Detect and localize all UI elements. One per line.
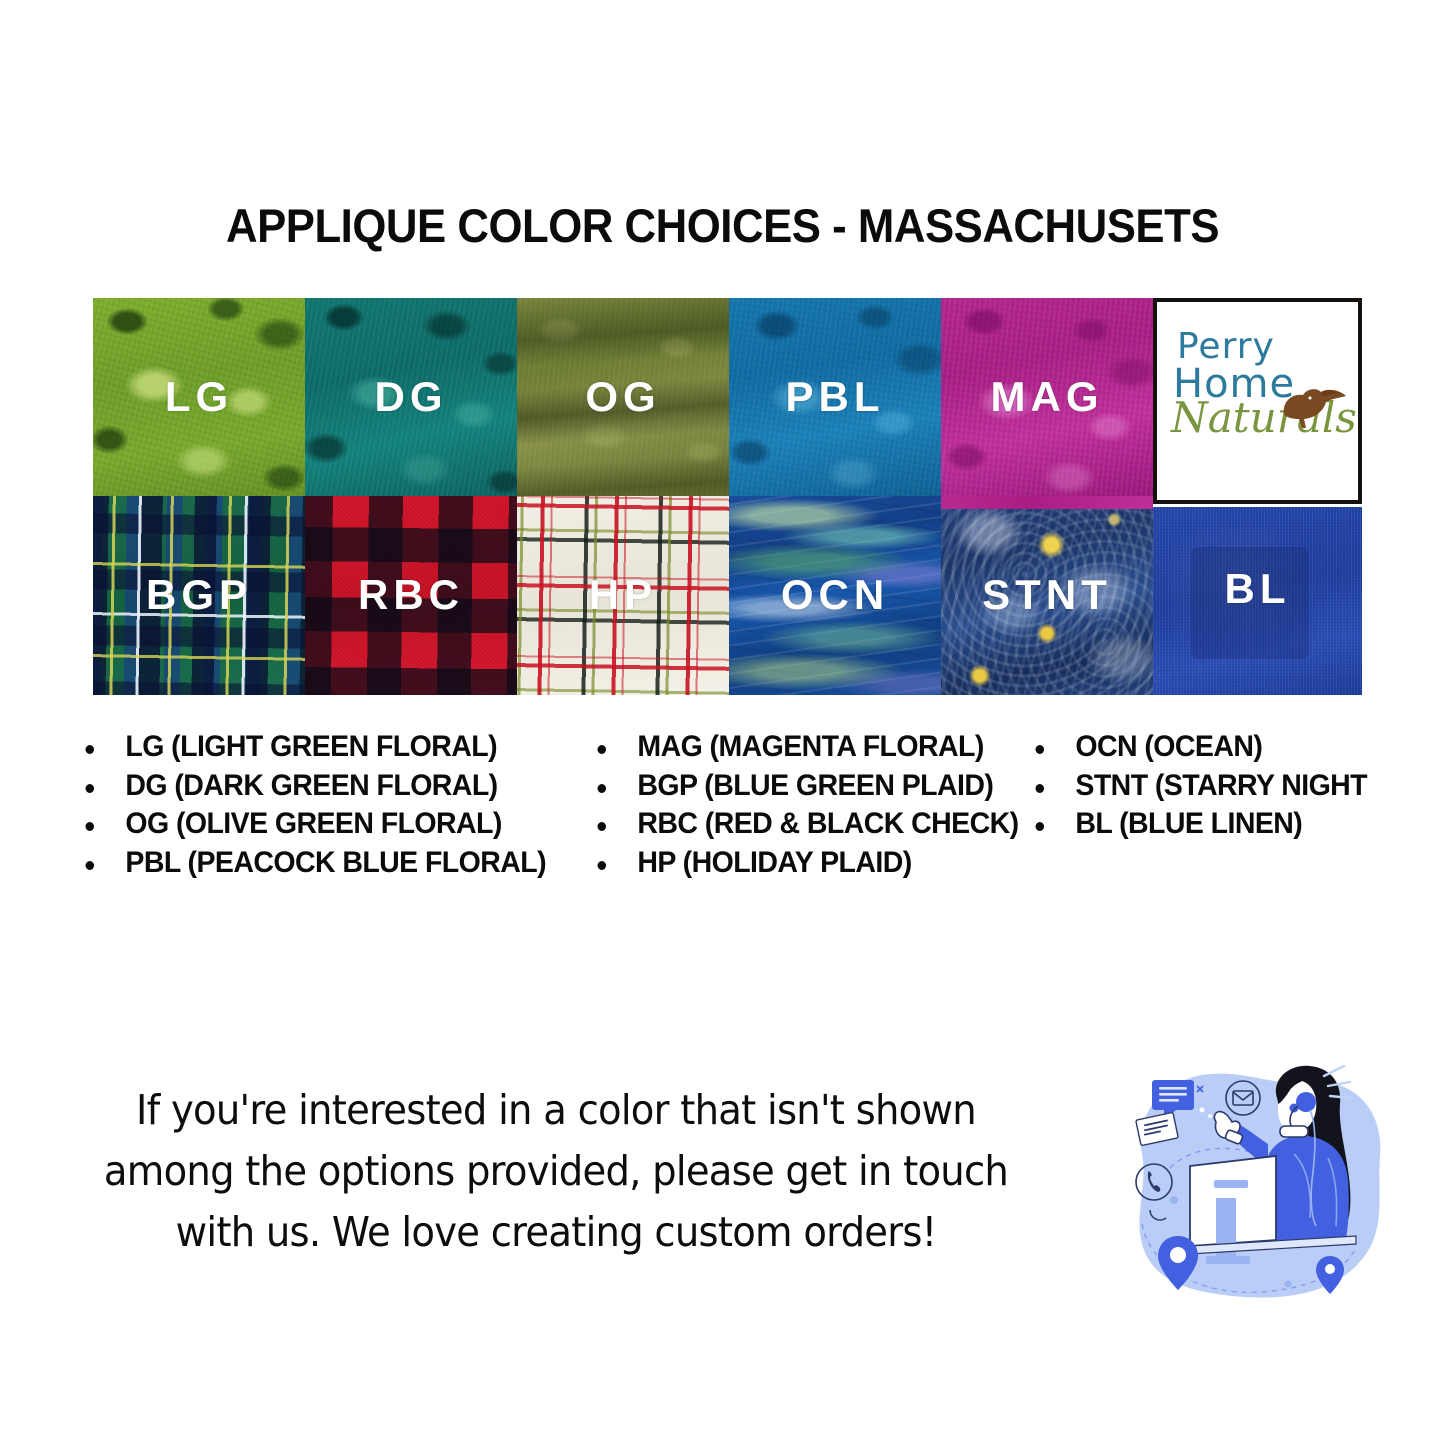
swatch-cell-dg[interactable]: DG xyxy=(305,298,517,497)
legend-column-3: OCN (OCEAN) STNT (STARRY NIGHT BL (BLUE … xyxy=(1026,728,1385,844)
swatch-cell-hp[interactable]: HP xyxy=(517,496,729,695)
dot-decor xyxy=(1208,1114,1212,1118)
swatch-label-stnt: STNT xyxy=(941,571,1153,619)
swatch-cell-ocn[interactable]: OCN xyxy=(729,496,941,695)
swatch-label-lg: LG xyxy=(93,373,305,421)
legend: LG (LIGHT GREEN FLORAL) DG (DARK GREEN F… xyxy=(0,728,1445,888)
swatch-grid: LG DG OG PBL MAG Perry Home Naturals BGP xyxy=(93,298,1362,695)
page-title: APPLIQUE COLOR CHOICES - MASSACHUSETS xyxy=(51,198,1395,253)
list-item: STNT (STARRY NIGHT xyxy=(1026,767,1367,806)
swatch-cell-rbc[interactable]: RBC xyxy=(305,496,517,695)
swatch-cell-bgp[interactable]: BGP xyxy=(93,496,305,695)
swatch-cell-stnt[interactable]: STNT xyxy=(941,496,1153,695)
bird-icon xyxy=(1276,380,1348,434)
swatch-cell-bl[interactable]: BL xyxy=(1153,507,1362,695)
swatch-cell-pbl[interactable]: PBL xyxy=(729,298,941,497)
swatch-cell-og[interactable]: OG xyxy=(517,298,729,497)
dot-decor xyxy=(1170,1196,1178,1204)
customer-support-illustration xyxy=(1098,1058,1398,1316)
swatch-label-ocn: OCN xyxy=(729,571,941,619)
dot-decor xyxy=(1200,1108,1205,1113)
swatch-cell-mag[interactable]: MAG xyxy=(941,298,1153,497)
list-item: DG (DARK GREEN FLORAL) xyxy=(76,767,546,806)
swatch-label-hp: HP xyxy=(517,571,729,619)
swatch-cell-lg[interactable]: LG xyxy=(93,298,305,497)
custom-order-note: If you're interested in a color that isn… xyxy=(77,1080,1036,1263)
swatch-label-og: OG xyxy=(517,373,729,421)
list-item: BGP (BLUE GREEN PLAID) xyxy=(588,767,1019,806)
swatch-label-mag: MAG xyxy=(941,373,1153,421)
swatch-label-rbc: RBC xyxy=(305,571,517,619)
list-item: RBC (RED & BLACK CHECK) xyxy=(588,805,1019,844)
list-item: OCN (OCEAN) xyxy=(1026,728,1367,767)
swatch-label-bgp: BGP xyxy=(93,571,305,619)
list-item: LG (LIGHT GREEN FLORAL) xyxy=(76,728,546,767)
headset-earcup xyxy=(1296,1092,1316,1112)
swatch-label-pbl: PBL xyxy=(729,373,941,421)
magenta-edge-strip xyxy=(941,496,1153,509)
swatch-label-bl: BL xyxy=(1153,565,1362,613)
list-item: MAG (MAGENTA FLORAL) xyxy=(588,728,1019,767)
list-item: HP (HOLIDAY PLAID) xyxy=(588,844,1019,883)
legend-column-1: LG (LIGHT GREEN FLORAL) DG (DARK GREEN F… xyxy=(76,728,571,882)
brand-logo: Perry Home Naturals xyxy=(1153,298,1362,504)
list-item: PBL (PEACOCK BLUE FLORAL) xyxy=(76,844,546,883)
collar xyxy=(1280,1126,1308,1137)
logo-text-perry: Perry xyxy=(1177,330,1346,365)
list-item: OG (OLIVE GREEN FLORAL) xyxy=(76,805,546,844)
list-item: BL (BLUE LINEN) xyxy=(1026,805,1367,844)
dot-decor xyxy=(1285,1281,1292,1288)
legend-column-2: MAG (MAGENTA FLORAL) BGP (BLUE GREEN PLA… xyxy=(588,728,1041,882)
swatch-label-dg: DG xyxy=(305,373,517,421)
